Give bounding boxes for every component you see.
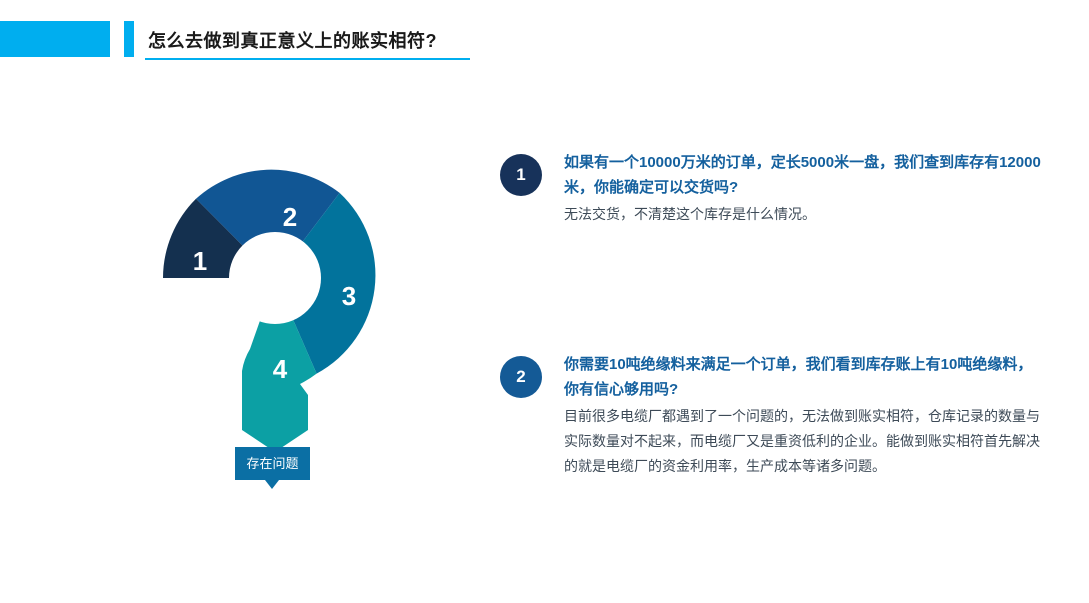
chart-label-3: 3 [342, 281, 356, 311]
item-description: 无法交货，不清楚这个库存是什么情况。 [564, 202, 1045, 227]
content-list: 1 如果有一个10000万米的订单，定长5000米一盘，我们查到库存有12000… [500, 150, 1045, 410]
list-item: 1 如果有一个10000万米的订单，定长5000米一盘，我们查到库存有12000… [500, 150, 1045, 227]
item-body: 如果有一个10000万米的订单，定长5000米一盘，我们查到库存有12000米，… [564, 150, 1045, 227]
item-title: 你需要10吨绝缘料来满足一个订单，我们看到库存账上有10吨绝缘料，你有信心够用吗… [564, 352, 1045, 402]
chart-label-1: 1 [193, 246, 207, 276]
item-title: 如果有一个10000万米的订单，定长5000米一盘，我们查到库存有12000米，… [564, 150, 1045, 200]
chart-label-2: 2 [283, 202, 297, 232]
chart-label-4: 4 [273, 354, 288, 384]
slide-header: 怎么去做到真正意义上的账实相符? [0, 0, 1089, 80]
header-accent-block [0, 21, 110, 57]
header-underline [145, 58, 470, 60]
chart-callout-box[interactable]: 存在问题 [235, 447, 310, 480]
question-mark-donut-chart: 1 2 3 4 [140, 140, 420, 500]
item-number-badge-1: 1 [500, 154, 542, 196]
question-mark-svg: 1 2 3 4 [140, 140, 420, 500]
item-body: 你需要10吨绝缘料来满足一个订单，我们看到库存账上有10吨绝缘料，你有信心够用吗… [564, 352, 1045, 479]
item-description: 目前很多电缆厂都遇到了一个问题的，无法做到账实相符，仓库记录的数量与实际数量对不… [564, 404, 1045, 479]
page-title: 怎么去做到真正意义上的账实相符? [148, 27, 437, 53]
chart-callout-pointer [265, 480, 279, 489]
chart-callout-label: 存在问题 [235, 447, 310, 480]
item-number-badge-2: 2 [500, 356, 542, 398]
header-accent-bar [124, 21, 134, 57]
list-item: 2 你需要10吨绝缘料来满足一个订单，我们看到库存账上有10吨绝缘料，你有信心够… [500, 352, 1045, 479]
